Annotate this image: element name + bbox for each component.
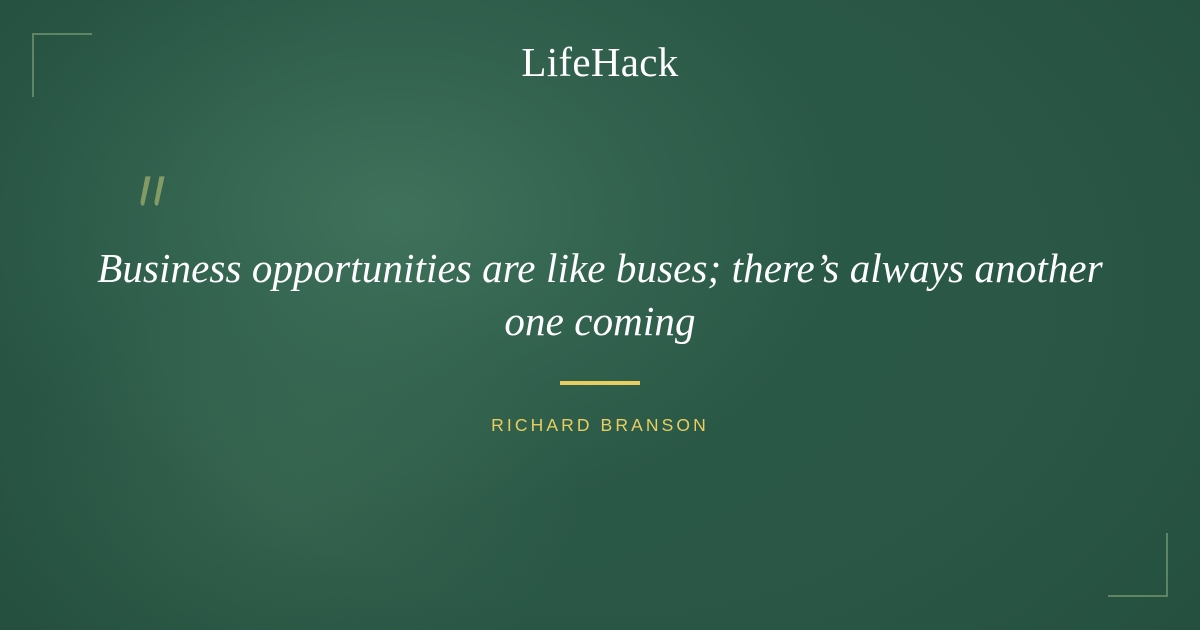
gold-divider	[560, 381, 640, 385]
brand-logo: LifeHack	[0, 38, 1200, 86]
double-quote-icon	[133, 174, 177, 218]
author-name: RICHARD BRANSON	[0, 413, 1200, 437]
corner-bracket-bottom-right-icon	[1108, 533, 1168, 597]
quote-card: LifeHack Business opportunities are like…	[0, 0, 1200, 630]
quote-text: Business opportunities are like buses; t…	[84, 242, 1116, 348]
